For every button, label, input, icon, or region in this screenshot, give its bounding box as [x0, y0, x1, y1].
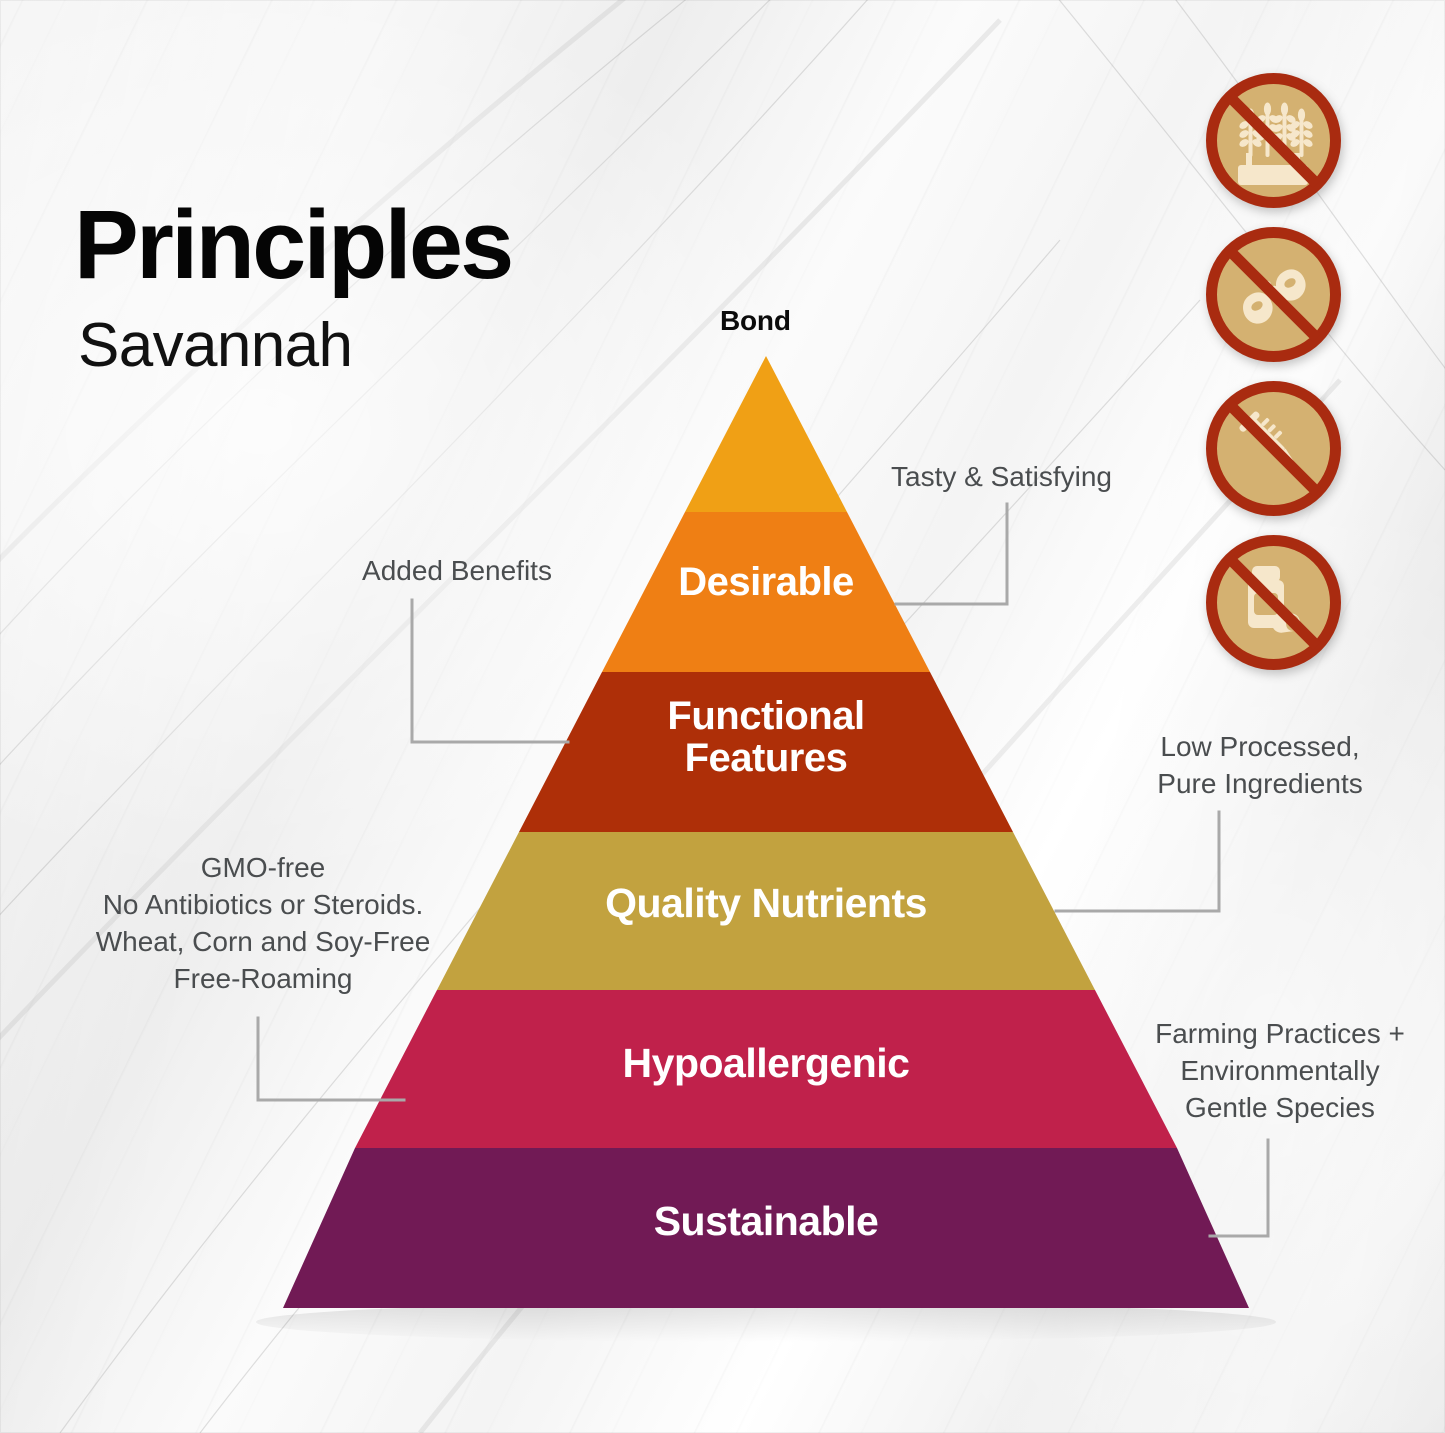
- callout-farming: Farming Practices + Environmentally Gent…: [1135, 1016, 1425, 1127]
- tier-label-functional: Functional Features: [546, 696, 986, 779]
- infographic-canvas: Principles Savannah: [0, 0, 1445, 1433]
- page-heading: Principles Savannah: [74, 196, 754, 377]
- tier-label-hypoallergenic: Hypoallergenic: [446, 1042, 1086, 1085]
- no-gmo-badge: [1206, 227, 1341, 362]
- tier-label-desirable: Desirable: [566, 562, 966, 604]
- badge-stack: [1206, 73, 1341, 689]
- no-syringe-badge: [1206, 381, 1341, 516]
- pyramid-apex-label: Bond: [720, 305, 791, 337]
- tier-label-quality: Quality Nutrients: [486, 882, 1046, 925]
- callout-tasty: Tasty & Satisfying: [891, 459, 1221, 496]
- no-medication-badge: [1206, 535, 1341, 670]
- callout-low-processed: Low Processed, Pure Ingredients: [1110, 729, 1410, 803]
- callout-added-benefits: Added Benefits: [307, 553, 607, 590]
- no-grain-badge: [1206, 73, 1341, 208]
- callout-gmo-block: GMO-free No Antibiotics or Steroids. Whe…: [58, 850, 468, 998]
- page-subtitle: Savannah: [78, 315, 754, 377]
- page-title: Principles: [74, 196, 754, 293]
- tier-label-sustainable: Sustainable: [446, 1200, 1086, 1243]
